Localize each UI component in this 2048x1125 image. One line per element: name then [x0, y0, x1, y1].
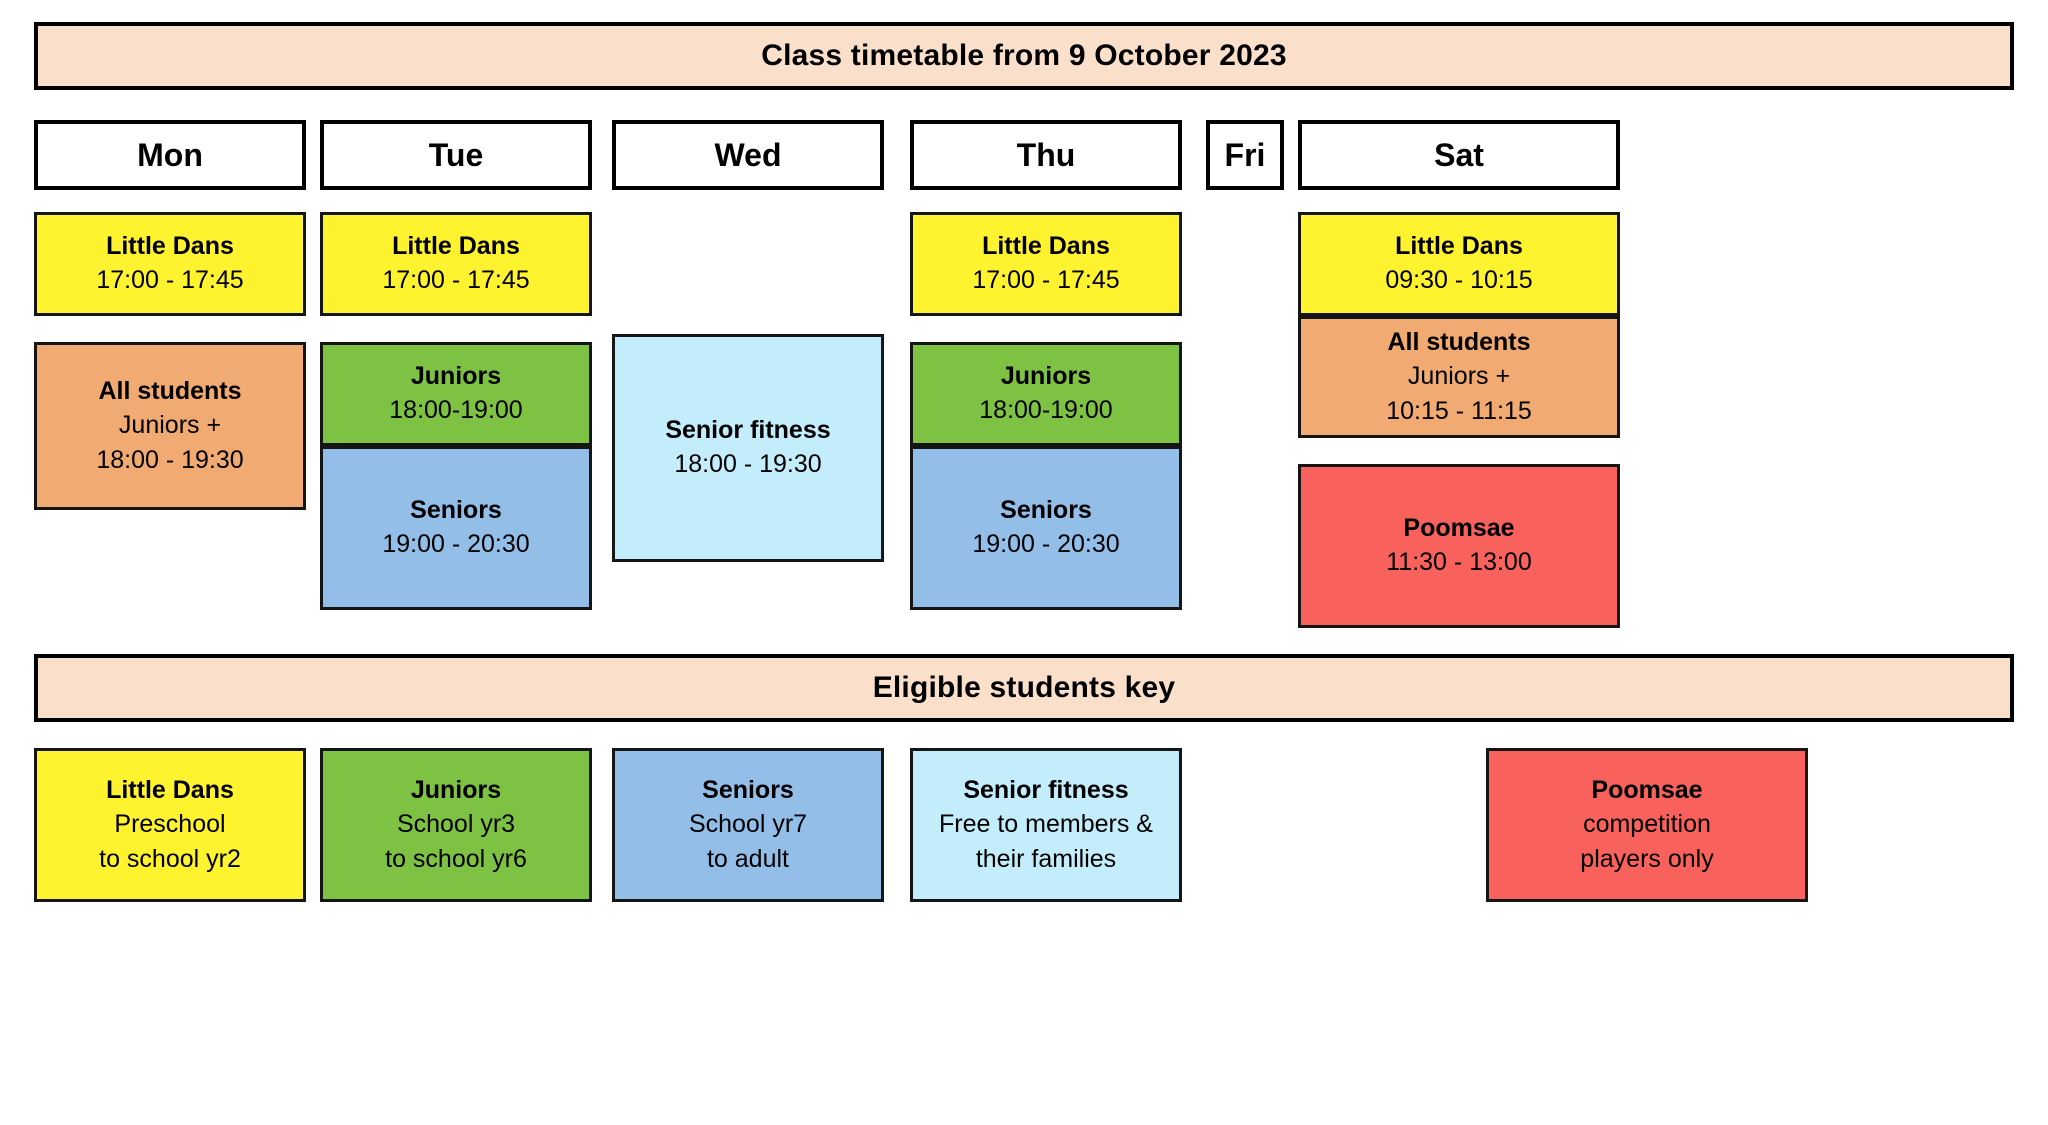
class-block[interactable]: Senior fitness18:00 - 19:30 — [612, 334, 884, 562]
legend-card[interactable]: Little DansPreschoolto school yr2 — [34, 748, 306, 902]
class-block-line: 09:30 - 10:15 — [1385, 263, 1532, 298]
class-block-line: 10:15 - 11:15 — [1386, 394, 1531, 429]
class-block[interactable]: Seniors19:00 - 20:30 — [910, 446, 1182, 610]
class-block-line: Juniors + — [1408, 359, 1510, 394]
class-block-title: Senior fitness — [665, 414, 830, 447]
class-block[interactable]: All studentsJuniors +10:15 - 11:15 — [1298, 316, 1620, 438]
class-block-title: All students — [98, 375, 241, 408]
class-block[interactable]: Little Dans17:00 - 17:45 — [34, 212, 306, 316]
class-block-line: 19:00 - 20:30 — [382, 527, 529, 562]
timetable-title-banner: Class timetable from 9 October 2023 — [34, 22, 2014, 90]
day-header-row: MonTueWedThuFriSat — [34, 120, 2014, 190]
legend-card-title: Juniors — [411, 773, 501, 807]
timetable-grid: Little Dans17:00 - 17:45All studentsJuni… — [34, 212, 2014, 628]
day-header-mon[interactable]: Mon — [34, 120, 306, 190]
day-header-thu[interactable]: Thu — [910, 120, 1182, 190]
class-block-line: 17:00 - 17:45 — [382, 263, 529, 298]
legend-card-line: to school yr2 — [99, 842, 241, 877]
class-block[interactable]: Juniors18:00-19:00 — [320, 342, 592, 446]
class-block-line: Juniors + — [119, 408, 221, 443]
legend-card-line: competition — [1583, 807, 1711, 842]
day-header-label: Tue — [429, 137, 484, 174]
class-block[interactable]: Seniors19:00 - 20:30 — [320, 446, 592, 610]
class-block[interactable]: All studentsJuniors +18:00 - 19:30 — [34, 342, 306, 510]
day-header-label: Mon — [137, 137, 203, 174]
class-block-line: 11:30 - 13:00 — [1386, 545, 1531, 580]
timetable-column-thu: Little Dans17:00 - 17:45Juniors18:00-19:… — [910, 212, 1182, 610]
class-block-line: 18:00 - 19:30 — [674, 447, 821, 482]
class-block[interactable]: Poomsae11:30 - 13:00 — [1298, 464, 1620, 628]
legend-card-line: School yr7 — [689, 807, 807, 842]
class-block-line: 18:00-19:00 — [389, 393, 522, 428]
timetable-page: Class timetable from 9 October 2023 MonT… — [0, 22, 2048, 1125]
legend-card-line: Preschool — [114, 807, 225, 842]
class-block-title: Juniors — [1001, 360, 1091, 393]
day-header-label: Sat — [1434, 137, 1484, 174]
legend-card-title: Poomsae — [1591, 773, 1702, 807]
class-block-line: 17:00 - 17:45 — [972, 263, 1119, 298]
class-block-title: Poomsae — [1403, 512, 1514, 545]
class-block-line: 18:00 - 19:30 — [96, 443, 243, 478]
day-header-tue[interactable]: Tue — [320, 120, 592, 190]
day-header-sat[interactable]: Sat — [1298, 120, 1620, 190]
timetable-column-wed: Senior fitness18:00 - 19:30 — [612, 212, 884, 562]
legend-row: Little DansPreschoolto school yr2Juniors… — [34, 748, 2014, 902]
class-block-line: 19:00 - 20:30 — [972, 527, 1119, 562]
class-block-title: Little Dans — [392, 230, 520, 263]
class-block[interactable]: Juniors18:00-19:00 — [910, 342, 1182, 446]
legend-card[interactable]: SeniorsSchool yr7to adult — [612, 748, 884, 902]
class-block-title: Juniors — [411, 360, 501, 393]
class-block-title: Little Dans — [1395, 230, 1523, 263]
class-block-line: 18:00-19:00 — [979, 393, 1112, 428]
legend-card[interactable]: Senior fitnessFree to members &their fam… — [910, 748, 1182, 902]
legend-card-title: Seniors — [702, 773, 794, 807]
timetable-column-mon: Little Dans17:00 - 17:45All studentsJuni… — [34, 212, 306, 510]
legend-card-line: School yr3 — [397, 807, 515, 842]
class-block-line: 17:00 - 17:45 — [96, 263, 243, 298]
class-block[interactable]: Little Dans17:00 - 17:45 — [910, 212, 1182, 316]
class-block-title: Little Dans — [106, 230, 234, 263]
day-header-fri[interactable]: Fri — [1206, 120, 1284, 190]
class-block-title: All students — [1387, 326, 1530, 359]
class-block[interactable]: Little Dans17:00 - 17:45 — [320, 212, 592, 316]
day-header-wed[interactable]: Wed — [612, 120, 884, 190]
legend-card-line: to adult — [707, 842, 789, 877]
legend-card[interactable]: JuniorsSchool yr3to school yr6 — [320, 748, 592, 902]
legend-card-line: to school yr6 — [385, 842, 527, 877]
class-block-title: Little Dans — [982, 230, 1110, 263]
legend-card-title: Senior fitness — [963, 773, 1128, 807]
legend-card-line: their families — [976, 842, 1116, 877]
legend-card-line: players only — [1580, 842, 1713, 877]
legend-card-title: Little Dans — [106, 773, 234, 807]
day-header-label: Fri — [1225, 137, 1266, 174]
class-block-title: Seniors — [410, 494, 502, 527]
eligible-students-key-banner: Eligible students key — [34, 654, 2014, 722]
day-header-label: Thu — [1017, 137, 1076, 174]
class-block[interactable]: Little Dans09:30 - 10:15 — [1298, 212, 1620, 316]
legend-card[interactable]: Poomsaecompetitionplayers only — [1486, 748, 1808, 902]
legend-card-line: Free to members & — [939, 807, 1153, 842]
day-header-label: Wed — [715, 137, 782, 174]
page-title: Class timetable from 9 October 2023 — [761, 39, 1287, 73]
timetable-column-tue: Little Dans17:00 - 17:45Juniors18:00-19:… — [320, 212, 592, 610]
timetable-column-sat: Little Dans09:30 - 10:15All studentsJuni… — [1298, 212, 1620, 628]
class-block-title: Seniors — [1000, 494, 1092, 527]
key-banner-title: Eligible students key — [873, 671, 1176, 705]
